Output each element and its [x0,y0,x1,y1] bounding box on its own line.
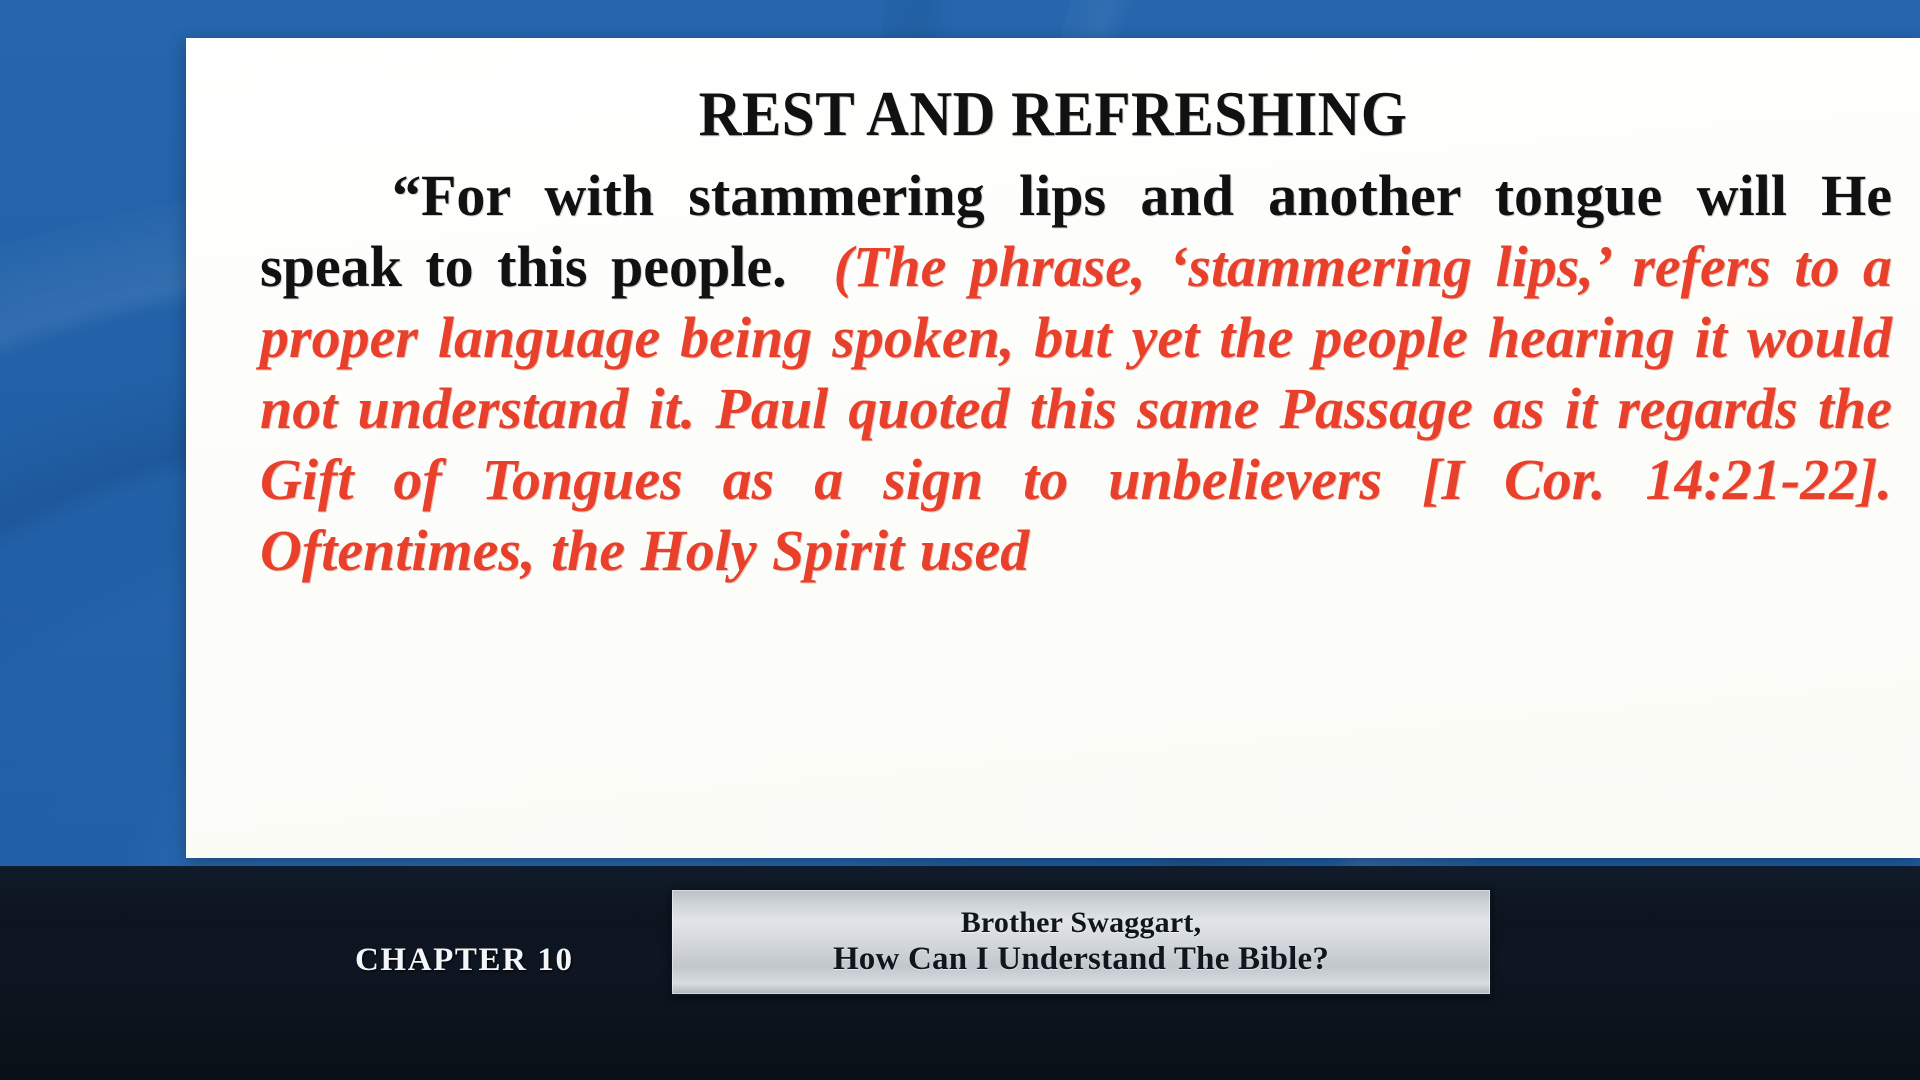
plaque-title-line: How Can I Understand The Bible? [833,940,1329,979]
chapter-label: CHAPTER 10 [355,942,574,979]
body-spacer [787,234,834,299]
book-title-plaque: Brother Swaggart, How Can I Understand T… [670,888,1492,996]
slide-stage: REST AND REFRESHING “For with stammering… [0,0,1920,1080]
slide-title: REST AND REFRESHING [259,82,1848,148]
slide-content-card: REST AND REFRESHING “For with stammering… [186,38,1920,858]
footer-bar: CHAPTER 10 Brother Swaggart, How Can I U… [0,866,1920,1080]
plaque-author-line: Brother Swaggart, [961,905,1202,940]
slide-card-inner: REST AND REFRESHING “For with stammering… [186,38,1920,586]
slide-body-text: “For with stammering lips and another to… [208,160,1898,586]
